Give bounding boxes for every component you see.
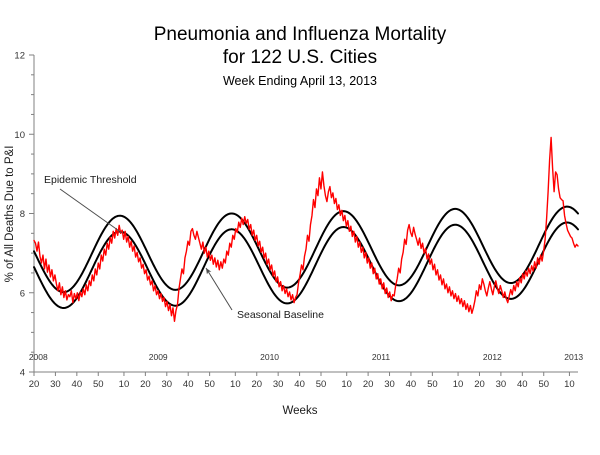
x-tick-label: 30 [273, 379, 284, 390]
y-tick-label: 4 [20, 368, 25, 379]
x-tick-label: 40 [517, 379, 528, 390]
x-tick-label: 50 [538, 379, 549, 390]
y-axis-title: % of All Deaths Due to P&I [4, 146, 16, 283]
x-tick-label: 20 [251, 379, 262, 390]
x-tick-label: 10 [119, 379, 130, 390]
x-tick-label: 30 [384, 379, 395, 390]
chart-title-line1: Pneumonia and Influenza Mortality [154, 24, 447, 45]
chart-subtitle: Week Ending April 13, 2013 [223, 74, 377, 88]
year-label: 2011 [372, 352, 391, 362]
x-tick-label: 30 [496, 379, 507, 390]
x-tick-label: 20 [474, 379, 485, 390]
x-tick-label: 10 [564, 379, 575, 390]
x-tick-label: 50 [204, 379, 215, 390]
x-tick-label: 10 [230, 379, 241, 390]
x-tick-label: 40 [183, 379, 194, 390]
y-tick-label: 10 [14, 130, 25, 141]
x-tick-label: 30 [50, 379, 61, 390]
x-tick-label: 40 [294, 379, 305, 390]
annotation-label: Seasonal Baseline [237, 309, 324, 321]
annotation-label: Epidemic Threshold [44, 174, 137, 186]
year-label: 2010 [260, 352, 279, 362]
x-tick-label: 50 [427, 379, 438, 390]
chart-title-line2: for 122 U.S. Cities [223, 47, 377, 68]
y-tick-label: 6 [20, 288, 25, 299]
x-tick-label: 10 [453, 379, 464, 390]
x-tick-label: 40 [72, 379, 83, 390]
pni-mortality-chart: Pneumonia and Influenza Mortality for 12… [0, 0, 600, 450]
y-tick-label: 8 [20, 209, 25, 220]
x-axis-title: Weeks [283, 405, 318, 417]
year-label: 2008 [29, 352, 48, 362]
x-tick-label: 50 [93, 379, 104, 390]
x-tick-label: 20 [363, 379, 374, 390]
y-tick-label: 12 [14, 51, 25, 62]
year-label: 2009 [149, 352, 168, 362]
year-label: 2013 [564, 352, 583, 362]
x-tick-label: 10 [341, 379, 352, 390]
x-tick-label: 50 [316, 379, 327, 390]
year-label: 2012 [483, 352, 502, 362]
chart-svg: Pneumonia and Influenza Mortality for 12… [0, 0, 600, 450]
x-tick-label: 20 [140, 379, 151, 390]
x-tick-label: 40 [406, 379, 417, 390]
x-tick-label: 30 [161, 379, 172, 390]
x-tick-label: 20 [29, 379, 40, 390]
